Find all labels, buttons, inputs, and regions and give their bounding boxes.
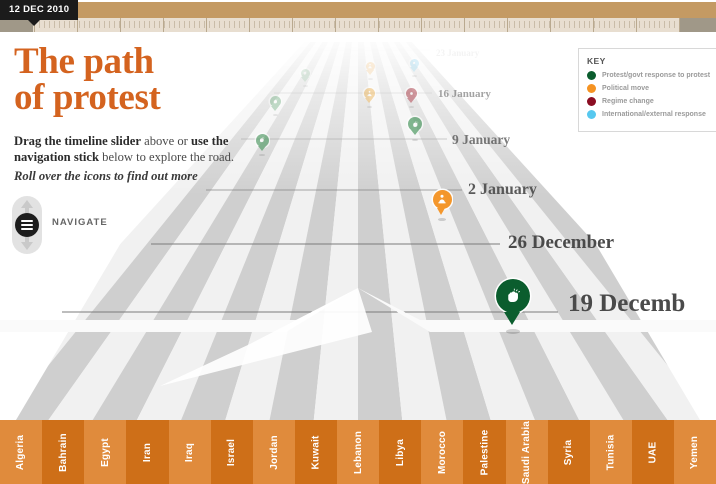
timeline-tick-major [378, 18, 379, 32]
date-marker-label[interactable]: 23 January [436, 48, 479, 58]
timeline-tick [109, 21, 110, 28]
timeline-tick [134, 21, 135, 28]
timeline-tick [329, 21, 330, 28]
timeline-tick [509, 21, 510, 28]
timeline-tick [479, 21, 480, 28]
timeline-tick [444, 21, 445, 28]
timeline-tick [664, 21, 665, 28]
timeline-tick [224, 21, 225, 28]
country-column-yemen[interactable]: Yemen [674, 420, 716, 484]
fist-icon [503, 286, 524, 307]
legend-item-label: International/external response [602, 111, 706, 118]
timeline-tick [379, 21, 380, 28]
timeline-tick [289, 21, 290, 28]
person-icon [436, 193, 448, 205]
timeline-tick [434, 21, 435, 28]
timeline-tick [474, 21, 475, 28]
timeline-tick [429, 21, 430, 28]
timeline-tick [589, 21, 590, 28]
timeline-current-date-label[interactable]: 12 DEC 2010 [0, 0, 78, 20]
dot-icon [408, 90, 415, 97]
pin-bubble[interactable] [496, 279, 530, 313]
country-label: Jordan [268, 435, 279, 470]
legend-dot-icon [587, 97, 596, 106]
pin-tail [407, 98, 415, 103]
handle-line-3 [21, 228, 33, 230]
timeline-tick [214, 21, 215, 28]
timeline-tick [294, 21, 295, 28]
timeline-tick [229, 21, 230, 28]
country-bar: AlgeriaBahrainEgyptIranIraqIsraelJordanK… [0, 420, 716, 484]
timeline-tick [389, 21, 390, 28]
navigate-label: NAVIGATE [52, 217, 108, 228]
timeline-tick [79, 21, 80, 28]
legend-item-label: Protest/govt response to protest [602, 72, 710, 79]
country-column-uae[interactable]: UAE [632, 420, 674, 484]
timeline-tick-major [464, 18, 465, 32]
timeline-tick [194, 21, 195, 28]
country-label: Libya [395, 438, 406, 465]
pin-tail [411, 130, 419, 135]
country-label: Morocco [437, 430, 448, 473]
date-marker-label[interactable]: 26 December [508, 232, 614, 254]
timeline-tick [254, 21, 255, 28]
country-label: Egypt [100, 438, 111, 467]
timeline-tick [644, 21, 645, 28]
country-label: Israel [226, 438, 237, 465]
pin-blue-far[interactable] [410, 59, 419, 77]
timeline-tick [544, 21, 545, 28]
timeline-tick [374, 21, 375, 28]
timeline-tick [639, 21, 640, 28]
timeline-tick [674, 21, 675, 28]
country-label: Kuwait [310, 435, 321, 469]
timeline-tick-major [206, 18, 207, 32]
timeline-tick [154, 21, 155, 28]
legend-item: Protest/govt response to protest [587, 71, 716, 80]
timeline-tick [409, 21, 410, 28]
timeline-tick [114, 21, 115, 28]
timeline-tick-major [163, 18, 164, 32]
timeline-tick-major [421, 18, 422, 32]
pin-shadow [368, 78, 373, 80]
timeline-tick-major [292, 18, 293, 32]
country-column-bahrain[interactable]: Bahrain [42, 420, 84, 484]
timeline-tick [264, 21, 265, 28]
timeline-tick [139, 21, 140, 28]
title-block: The path of protest Drag the timeline sl… [14, 44, 314, 185]
pin-orange-mid[interactable] [433, 190, 452, 222]
date-marker-label[interactable]: 2 January [468, 181, 537, 199]
timeline-tick-major [636, 18, 637, 32]
page-title: The path of protest [14, 44, 314, 117]
timeline-tick [209, 21, 210, 28]
infographic-stage: 12 DEC 2010 The path of protest Drag the… [0, 0, 716, 484]
country-column-saudi-arabia[interactable]: Saudi Arabia [506, 420, 548, 484]
legend-item: Political move [587, 84, 716, 93]
timeline-tick [234, 21, 235, 28]
timeline-tick [539, 21, 540, 28]
timeline-tick [624, 21, 625, 28]
timeline-tick [129, 21, 130, 28]
timeline-tick [359, 21, 360, 28]
timeline-tick [629, 21, 630, 28]
country-column-egypt[interactable]: Egypt [84, 420, 126, 484]
country-label: Lebanon [353, 430, 364, 473]
timeline-tick [349, 21, 350, 28]
fist-icon [411, 120, 420, 129]
timeline-tick [169, 21, 170, 28]
country-column-kuwait[interactable]: Kuwait [295, 420, 337, 484]
timeline-tick-major [679, 18, 680, 32]
country-label: Iraq [184, 442, 195, 461]
timeline-tick [534, 21, 535, 28]
timeline-tick [89, 21, 90, 28]
country-label: Iran [142, 442, 153, 461]
timeline-tick-major [249, 18, 250, 32]
date-marker-label[interactable]: 19 Decemb [568, 290, 685, 318]
country-label: Tunisia [605, 434, 616, 470]
timeline-tick [324, 21, 325, 28]
navigation-stick[interactable]: NAVIGATE [12, 196, 132, 254]
timeline-tick [184, 21, 185, 28]
timeline-tick [529, 21, 530, 28]
timeline-tick [94, 21, 95, 28]
timeline-tick [599, 21, 600, 28]
legend-dot-icon [587, 84, 596, 93]
country-column-tunisia[interactable]: Tunisia [590, 420, 632, 484]
date-marker-label[interactable]: 16 January [438, 88, 491, 100]
timeline-tick [44, 21, 45, 28]
navigation-handle[interactable] [15, 213, 39, 237]
timeline-tick [204, 21, 205, 28]
timeline-tick [439, 21, 440, 28]
timeline-tick [649, 21, 650, 28]
standfirst: Drag the timeline slider above or use th… [14, 133, 262, 185]
pin-shadow [506, 329, 520, 334]
timeline-tick [364, 21, 365, 28]
timeline-tick [524, 21, 525, 28]
timeline-tick [484, 21, 485, 28]
timeline-tick [419, 21, 420, 28]
timeline-tick [369, 21, 370, 28]
timeline-tick [309, 21, 310, 28]
legend-item-label: Political move [602, 85, 649, 92]
legend-item: Regime change [587, 97, 716, 106]
timeline-tick [219, 21, 220, 28]
legend-item: International/external response [587, 110, 716, 119]
pin-red-upper[interactable] [406, 88, 417, 108]
timeline-tick [179, 21, 180, 28]
timeline-tick [454, 21, 455, 28]
standfirst-text-1: above or [141, 134, 191, 148]
timeline-tick [519, 21, 520, 28]
country-column-lebanon[interactable]: Lebanon [337, 420, 379, 484]
date-marker-label[interactable]: 9 January [452, 132, 510, 148]
standfirst-italic: Roll over the icons to find out more [14, 168, 262, 185]
country-label: Yemen [690, 435, 701, 468]
timeline-tick-major [507, 18, 508, 32]
timeline-tick [244, 21, 245, 28]
legend-dot-icon [587, 71, 596, 80]
timeline-tick-major [77, 18, 78, 32]
timeline-tick [499, 21, 500, 28]
country-label: UAE [647, 441, 658, 463]
timeline-tick [74, 21, 75, 28]
timeline-tick [149, 21, 150, 28]
timeline-handle[interactable] [27, 19, 41, 26]
timeline-tick [104, 21, 105, 28]
timeline-tick [299, 21, 300, 28]
timeline-tick [124, 21, 125, 28]
country-column-palestine[interactable]: Palestine [463, 420, 505, 484]
timeline-tick [609, 21, 610, 28]
timeline-tick [59, 21, 60, 28]
pin-tail [410, 67, 418, 72]
timeline-tick [339, 21, 340, 28]
timeline-tick [404, 21, 405, 28]
timeline-tick [654, 21, 655, 28]
country-column-iran[interactable]: Iran [126, 420, 168, 484]
pin-tail [504, 312, 520, 325]
timeline-tick [384, 21, 385, 28]
timeline-tick-major [120, 18, 121, 32]
pin-orange-far[interactable] [366, 62, 375, 80]
timeline-tick [174, 21, 175, 28]
timeline-tick [574, 21, 575, 28]
country-column-syria[interactable]: Syria [548, 420, 590, 484]
timeline-tick-major [335, 18, 336, 32]
timeline-tick [579, 21, 580, 28]
timeline-tick [584, 21, 585, 28]
page-title-line2: of protest [14, 80, 314, 116]
timeline-tick [504, 21, 505, 28]
timeline-tick [49, 21, 50, 28]
timeline-tick [489, 21, 490, 28]
pin-green-mid[interactable] [408, 117, 422, 141]
timeline-tick [144, 21, 145, 28]
country-label: Saudi Arabia [521, 420, 532, 483]
timeline-tick [84, 21, 85, 28]
timeline-tick-major [550, 18, 551, 32]
country-label: Bahrain [58, 433, 69, 472]
country-label: Palestine [479, 429, 490, 475]
pin-shadow [412, 139, 418, 141]
timeline-tick [449, 21, 450, 28]
timeline-tick [239, 21, 240, 28]
pin-shadow [412, 75, 417, 77]
page-title-line1: The path [14, 41, 154, 82]
timeline-tick [619, 21, 620, 28]
pin-tail [365, 98, 373, 103]
timeline-tick [199, 21, 200, 28]
timeline-tick [559, 21, 560, 28]
dot-icon [411, 60, 417, 66]
timeline-tick [399, 21, 400, 28]
timeline-tick [99, 21, 100, 28]
timeline-tick [54, 21, 55, 28]
pin-shadow [438, 218, 446, 221]
pin-shadow [367, 106, 372, 108]
timeline-tick [284, 21, 285, 28]
timeline-tick [159, 21, 160, 28]
timeline-tick [424, 21, 425, 28]
pin-bubble[interactable] [408, 117, 422, 131]
person-icon [366, 90, 373, 97]
timeline-tick [554, 21, 555, 28]
timeline-tick [344, 21, 345, 28]
country-column-jordan[interactable]: Jordan [253, 420, 295, 484]
timeline-tick [414, 21, 415, 28]
pin-tail [366, 70, 374, 75]
timeline-ruler-end-cap [680, 18, 716, 32]
legend-rows: Protest/govt response to protestPolitica… [587, 71, 716, 119]
legend-title: KEY [587, 56, 716, 66]
country-column-iraq[interactable]: Iraq [169, 420, 211, 484]
timeline-tick [319, 21, 320, 28]
timeline-track[interactable] [0, 2, 716, 18]
timeline-tick [314, 21, 315, 28]
timeline-tick [634, 21, 635, 28]
pin-bubble[interactable] [433, 190, 452, 209]
timeline-tick [659, 21, 660, 28]
timeline-tick [304, 21, 305, 28]
standfirst-text-2: below to explore the road. [99, 150, 234, 164]
country-column-libya[interactable]: Libya [379, 420, 421, 484]
country-column-morocco[interactable]: Morocco [421, 420, 463, 484]
timeline-tick [564, 21, 565, 28]
country-label: Syria [563, 439, 574, 464]
timeline-tick [274, 21, 275, 28]
timeline-tick [164, 21, 165, 28]
pin-tail [437, 208, 445, 215]
person-icon [367, 63, 373, 69]
handle-line-2 [21, 224, 33, 226]
timeline-slider[interactable]: 12 DEC 2010 [0, 0, 716, 32]
timeline-tick [604, 21, 605, 28]
country-label: Algeria [16, 434, 27, 469]
timeline-tick [494, 21, 495, 28]
timeline-tick [259, 21, 260, 28]
timeline-tick [394, 21, 395, 28]
timeline-tick [64, 21, 65, 28]
timeline-tick [269, 21, 270, 28]
timeline-tick [669, 21, 670, 28]
timeline-tick [594, 21, 595, 28]
pin-shadow [409, 106, 414, 108]
timeline-tick [614, 21, 615, 28]
timeline-tick [514, 21, 515, 28]
standfirst-bold-1: Drag the timeline slider [14, 134, 141, 148]
timeline-tick [354, 21, 355, 28]
timeline-tick-major [593, 18, 594, 32]
handle-line-1 [21, 220, 33, 222]
legend-item-label: Regime change [602, 98, 654, 105]
timeline-tick [279, 21, 280, 28]
timeline-tick [469, 21, 470, 28]
country-column-algeria[interactable]: Algeria [0, 420, 42, 484]
pin-green-near[interactable] [496, 279, 530, 336]
country-column-israel[interactable]: Israel [211, 420, 253, 484]
timeline-tick [569, 21, 570, 28]
timeline-tick [459, 21, 460, 28]
timeline-tick [69, 21, 70, 28]
legend-key: KEY Protest/govt response to protestPoli… [578, 48, 716, 132]
timeline-tick [189, 21, 190, 28]
pin-orange-upper[interactable] [364, 88, 375, 108]
legend-dot-icon [587, 110, 596, 119]
